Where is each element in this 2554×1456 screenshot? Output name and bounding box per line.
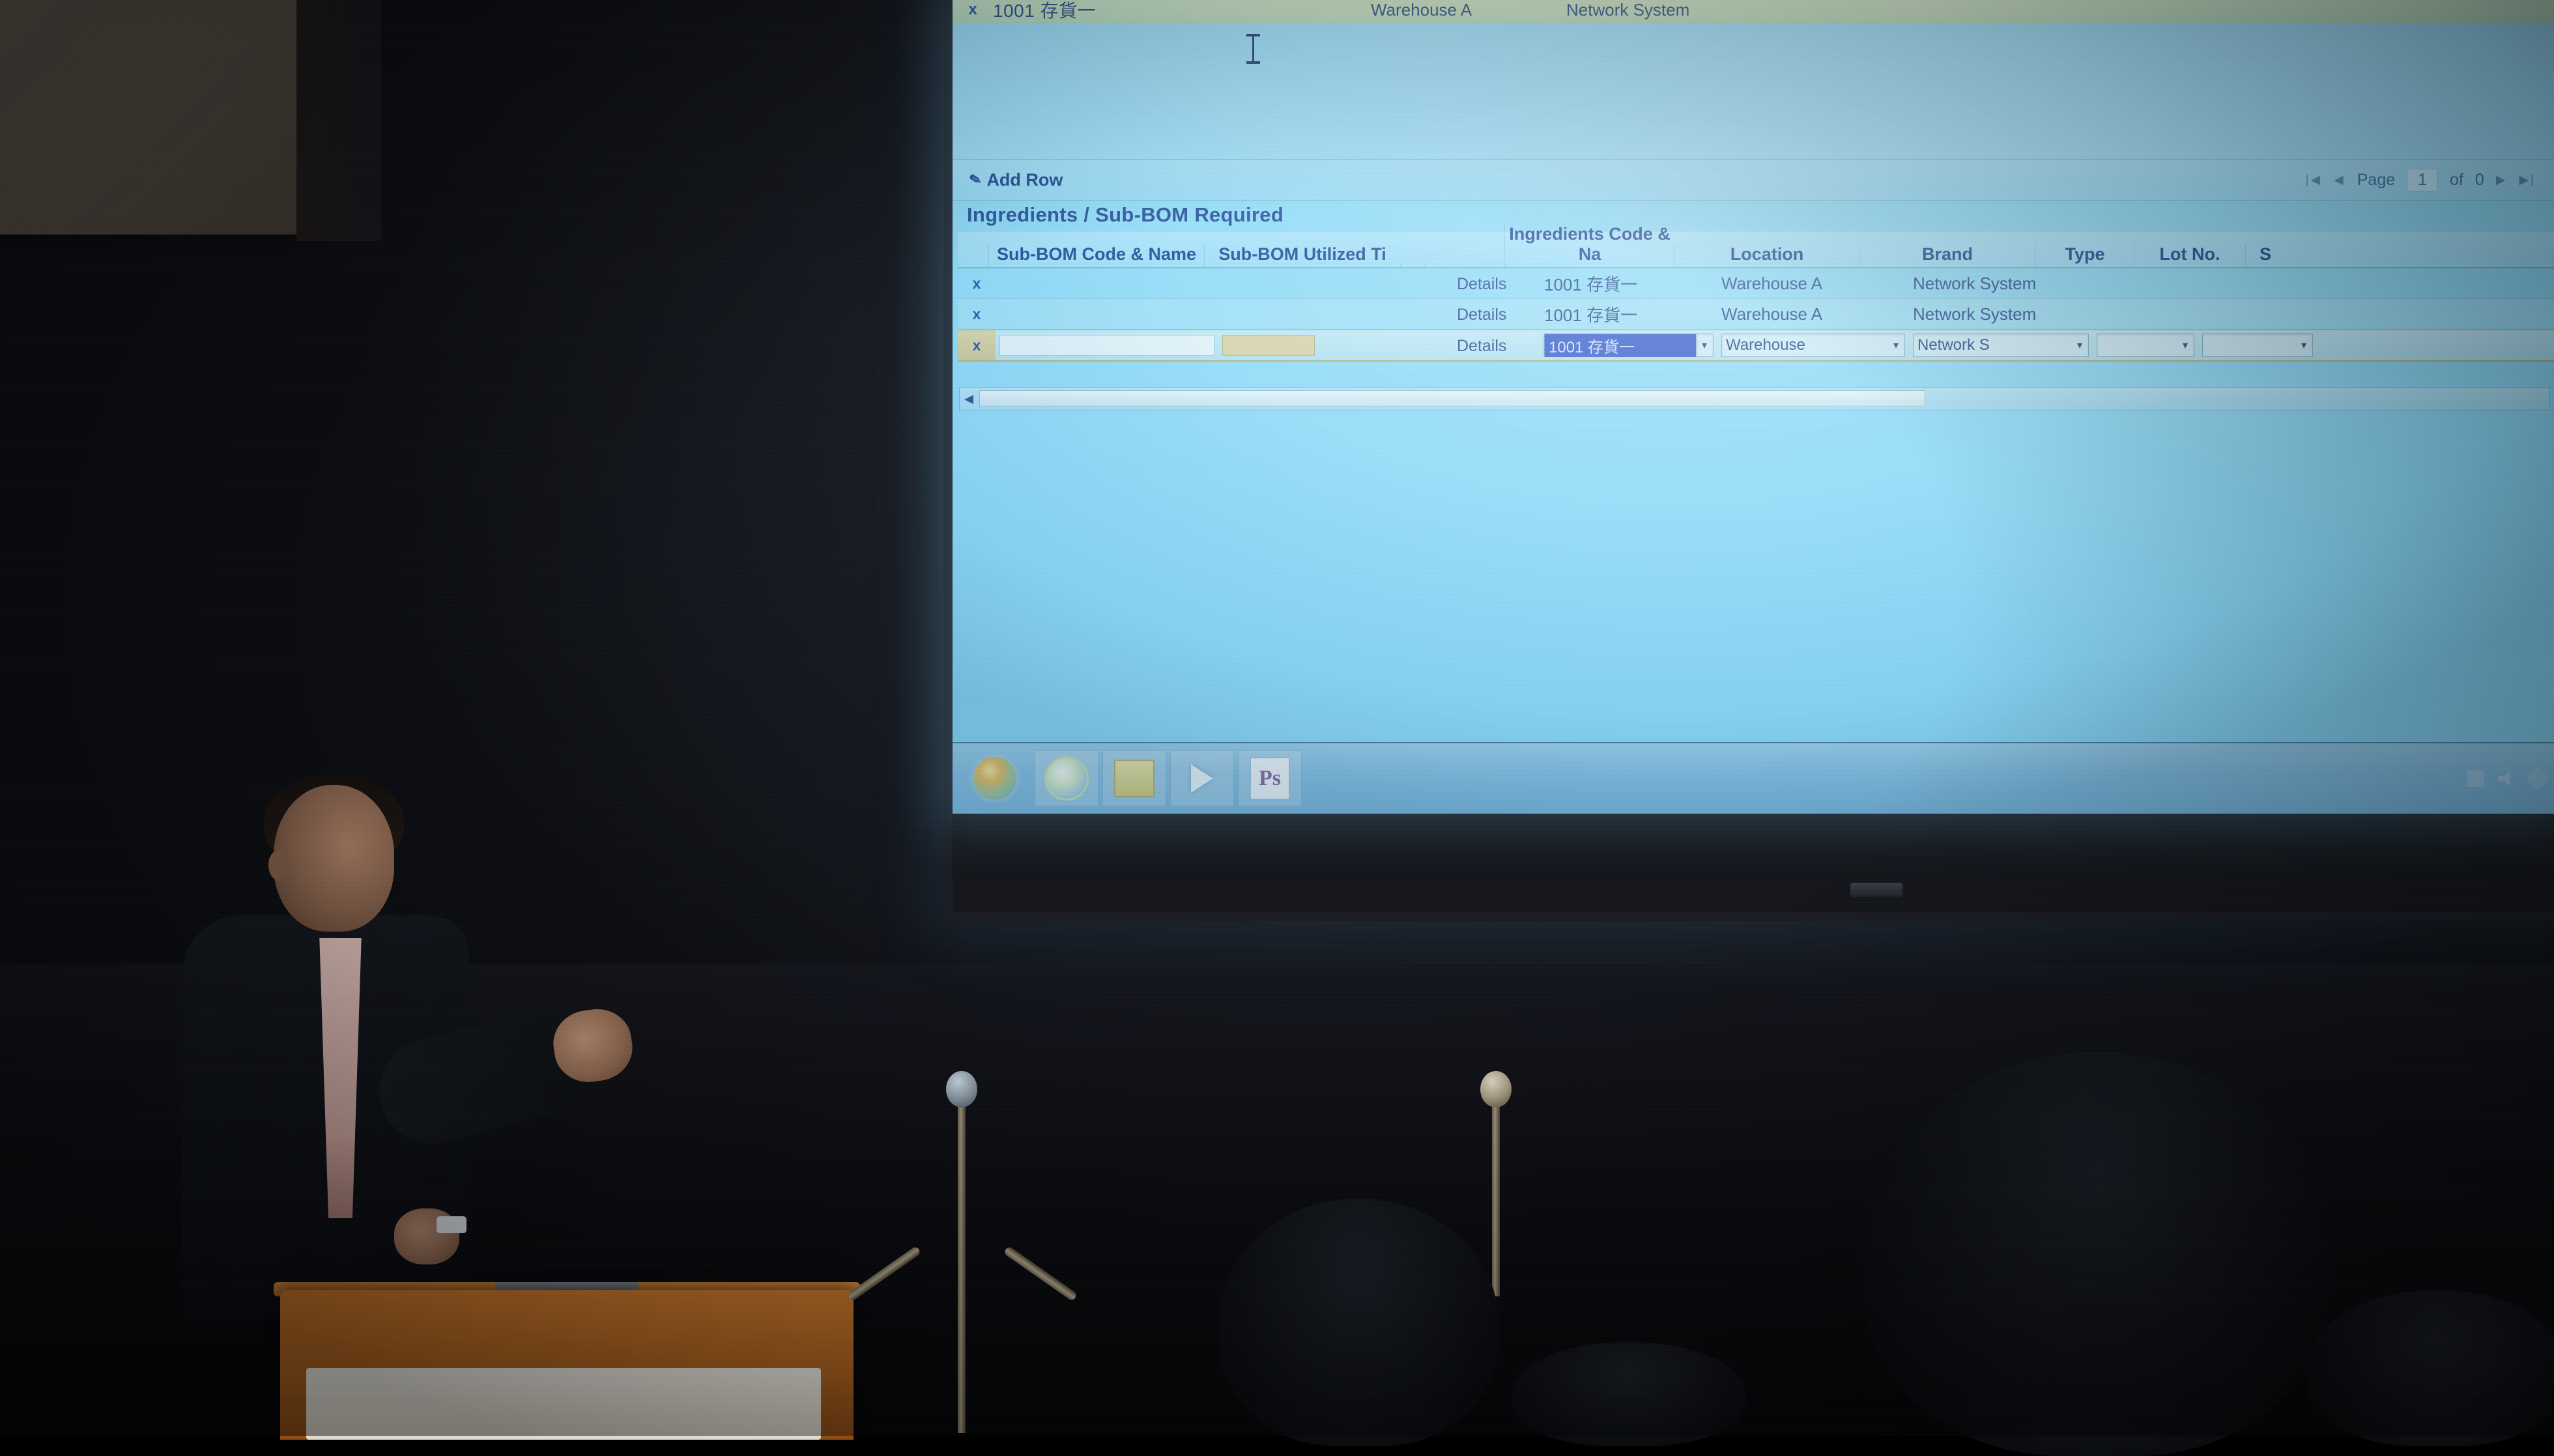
folder-app-icon (1114, 760, 1155, 797)
chevron-down-icon[interactable]: ▾ (1696, 339, 1713, 352)
presentation-clicker (437, 1216, 466, 1233)
windows-taskbar: Ps (953, 742, 2554, 814)
upper-code-name-cell: 1001 存貨一 (993, 0, 1371, 23)
prev-page-icon[interactable]: ◀ (2334, 173, 2346, 188)
volume-icon[interactable] (2498, 770, 2515, 787)
table-row[interactable]: x Details 1001 存貨一 Warehouse A Network S… (958, 268, 2554, 299)
taskbar-internet-explorer[interactable] (1035, 750, 1098, 807)
brand-cell[interactable]: Network System (1909, 274, 2093, 294)
microphone-icon (946, 1071, 977, 1107)
projection-screen-mount (1850, 883, 1902, 897)
presenter-head (274, 785, 394, 932)
total-pages-value: 0 (2475, 171, 2484, 190)
horizontal-scrollbar[interactable]: ◀ (959, 387, 2550, 410)
details-button[interactable]: Details (1457, 337, 1506, 356)
location-cell[interactable]: Warehouse A (1717, 304, 1909, 324)
start-orb-icon (973, 757, 1016, 800)
grid-header-lot-no[interactable]: Lot No. (2134, 244, 2245, 267)
sub-bom-code-editor[interactable] (996, 335, 1218, 356)
grid-header-details (1424, 264, 1504, 267)
details-button[interactable]: Details (1457, 306, 1506, 324)
section-title: Ingredients / Sub-BOM Required (967, 203, 1284, 227)
media-player-icon (1191, 764, 1213, 793)
brand-cell[interactable]: Network System (1909, 304, 2093, 324)
chevron-down-icon[interactable]: ▾ (2295, 339, 2312, 352)
text-ibeam-cursor (1252, 34, 1254, 64)
taskbar-folder-app[interactable] (1102, 750, 1166, 807)
upper-brand-cell: Network System (1566, 0, 1801, 20)
delete-row-icon[interactable]: x (958, 275, 996, 293)
add-row-icon: ✎ (968, 170, 983, 189)
erp-bom-application: x 1001 存貨一 Warehouse A Network System ✎ … (953, 0, 2554, 814)
page-number-input[interactable]: 1 (2407, 169, 2438, 192)
chevron-down-icon[interactable]: ▾ (2071, 339, 2088, 352)
of-label: of (2450, 171, 2463, 190)
taskbar-media-player[interactable] (1170, 750, 1234, 807)
audience-head (1218, 1199, 1499, 1446)
grid-header-gap (1400, 264, 1424, 267)
mic-pole (1492, 1101, 1500, 1296)
pagination-control[interactable]: |◀ ◀ Page 1 of 0 ▶ ▶| (2306, 169, 2536, 192)
last-page-icon[interactable]: ▶| (2519, 173, 2536, 188)
grid-header-spacer (958, 264, 988, 267)
table-row[interactable]: x 1001 存貨一 Warehouse A Network System (953, 0, 2554, 25)
chevron-down-icon[interactable]: ▾ (2177, 339, 2194, 352)
location-selected-text[interactable]: Warehouse (1722, 336, 1887, 354)
location-combobox[interactable]: Warehouse ▾ (1717, 334, 1909, 357)
mic-pole (958, 1101, 966, 1433)
ingredients-grid: Sub-BOM Code & Name Sub-BOM Utilized Ti … (958, 232, 2554, 362)
wall-shadow (296, 0, 381, 241)
grid-header-row: Sub-BOM Code & Name Sub-BOM Utilized Ti … (958, 232, 2554, 268)
upper-grid: x 1001 存貨一 Warehouse A Network System (953, 0, 2554, 159)
grid-header-s[interactable]: S (2245, 244, 2285, 267)
add-row-button[interactable]: ✎ Add Row (969, 170, 1063, 190)
grid-header-sub-bom-code[interactable]: Sub-BOM Code & Name (988, 244, 1204, 267)
microphone-icon (1480, 1071, 1512, 1107)
grid-header-sub-bom-utilized[interactable]: Sub-BOM Utilized Ti (1204, 244, 1400, 267)
grid-header-type[interactable]: Type (2035, 244, 2134, 267)
table-row[interactable]: x Details 1001 存貨一 Warehouse A Network S… (958, 299, 2554, 330)
sub-bom-utilized-editor[interactable] (1218, 335, 1422, 356)
tray-icon-network[interactable] (2526, 767, 2550, 791)
upper-grid-toolbar: ✎ Add Row |◀ ◀ Page 1 of 0 ▶ ▶| (953, 159, 2554, 201)
brand-selected-text[interactable]: Network S (1914, 336, 2071, 354)
table-row-editing[interactable]: x Details 1001 存貨一 ▾ Warehouse ▾ (958, 330, 2554, 362)
ingredients-code-cell[interactable]: 1001 存貨一 (1540, 302, 1717, 326)
audience-head (1863, 1052, 2332, 1456)
internet-explorer-icon (1044, 756, 1089, 801)
add-row-label: Add Row (986, 170, 1063, 190)
upper-grid-empty-area (953, 23, 2554, 159)
start-button[interactable] (959, 751, 1031, 806)
upper-location-cell: Warehouse A (1371, 0, 1566, 20)
secondary-screen-panel (0, 0, 300, 235)
audience-head (1512, 1342, 1746, 1446)
delete-row-icon[interactable]: x (958, 306, 996, 323)
chevron-down-icon[interactable]: ▾ (1887, 339, 1904, 352)
system-tray[interactable] (2467, 770, 2546, 787)
ingredients-code-cell[interactable]: 1001 存貨一 (1540, 272, 1717, 296)
grid-header-ingredients-code[interactable]: Ingredients Code & Na (1504, 224, 1674, 267)
type-combobox[interactable]: ▾ (2093, 334, 2198, 357)
presenter-ear (268, 850, 288, 880)
details-button[interactable]: Details (1457, 275, 1506, 294)
taskbar-photoshop[interactable]: Ps (1238, 750, 1302, 807)
next-page-icon[interactable]: ▶ (2496, 173, 2508, 188)
delete-row-icon[interactable]: x (958, 330, 996, 360)
audience-head (2306, 1290, 2554, 1446)
first-page-icon[interactable]: |◀ (2306, 173, 2323, 188)
photoshop-icon: Ps (1250, 757, 1290, 800)
projection-screen: x 1001 存貨一 Warehouse A Network System ✎ … (953, 0, 2554, 814)
ingredients-code-combobox[interactable]: 1001 存貨一 ▾ (1540, 334, 1717, 357)
grid-header-brand[interactable]: Brand (1859, 244, 2035, 267)
presenter (163, 778, 580, 1313)
delete-row-icon[interactable]: x (953, 1, 993, 19)
scroll-left-icon[interactable]: ◀ (960, 392, 978, 406)
lot-no-combobox[interactable]: ▾ (2198, 334, 2317, 357)
podium-sign-panel (306, 1368, 821, 1440)
location-cell[interactable]: Warehouse A (1717, 274, 1909, 294)
grid-header-location[interactable]: Location (1674, 244, 1859, 267)
page-label: Page (2357, 171, 2395, 190)
scrollbar-thumb[interactable] (979, 390, 1925, 407)
brand-combobox[interactable]: Network S ▾ (1909, 334, 2093, 357)
tray-icon-generic[interactable] (2467, 770, 2484, 787)
ingredients-code-selected-text[interactable]: 1001 存貨一 (1545, 334, 1696, 357)
